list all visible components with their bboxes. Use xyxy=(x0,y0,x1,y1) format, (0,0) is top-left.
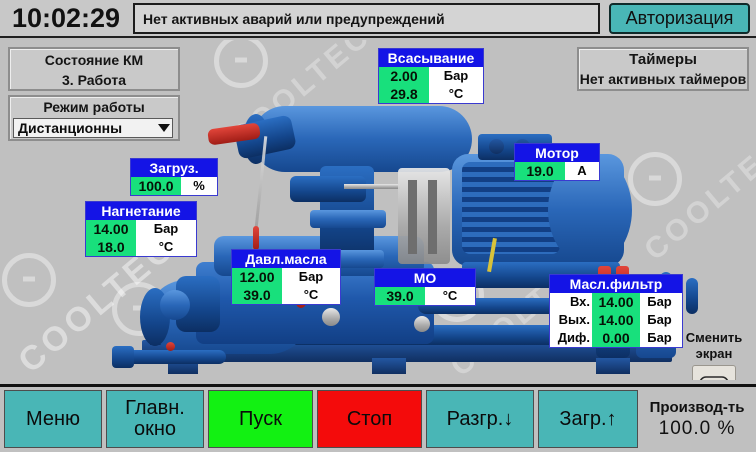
change-screen-button[interactable] xyxy=(692,365,736,380)
oil-filter-diff-unit: Бар xyxy=(640,329,679,347)
mo-value-row: 39.0 °C xyxy=(375,287,475,305)
coupling-guard xyxy=(398,168,450,264)
pressure-gauge xyxy=(414,316,430,332)
main-window-button[interactable]: Главн. окно xyxy=(106,390,204,448)
alarm-message-banner: Нет активных аварий или предупреждений xyxy=(133,3,600,34)
oil-filter-inlet-unit: Бар xyxy=(640,293,679,311)
change-screen-control[interactable]: Сменить экран xyxy=(678,330,750,380)
hmi-screen: 10:02:29 Нет активных аварий или предупр… xyxy=(0,0,756,452)
oil-filter-diff-label: Диф. xyxy=(550,329,592,347)
load-value: 100.0 xyxy=(131,177,181,195)
timers-panel: Таймеры Нет активных таймеров xyxy=(577,47,749,91)
machine-leg xyxy=(596,358,630,374)
oil-separator-nozzle xyxy=(112,346,134,368)
chevron-down-icon xyxy=(158,124,170,132)
actuator-rod xyxy=(344,184,400,189)
motor-current-unit: A xyxy=(565,162,599,180)
operating-mode-title: Режим работы xyxy=(10,98,178,117)
loop-arrow-icon xyxy=(699,374,729,380)
watermark-ring-icon xyxy=(628,152,682,206)
motor-tag-title: Мотор xyxy=(515,144,599,162)
watermark-ring-icon xyxy=(2,253,56,307)
menu-button[interactable]: Меню xyxy=(4,390,102,448)
coupling-guard-slot xyxy=(408,180,417,254)
bottom-toolbar: Меню Главн. окно Пуск Стоп Разгр.↓ Загр.… xyxy=(0,384,756,452)
stop-button[interactable]: Стоп xyxy=(317,390,422,448)
discharge-tag-title: Нагнетание xyxy=(86,202,196,220)
oil-pressure-unit: Бар xyxy=(282,268,340,286)
capacity-readout: Производ-ть 100.0 % xyxy=(642,390,752,448)
capacity-label: Производ-ть xyxy=(650,398,745,417)
suction-temperature-value: 29.8 xyxy=(379,85,429,103)
oil-filter-tag-title: Масл.фильтр xyxy=(550,275,682,293)
oil-filter-diff-row: Диф. 0.00 Бар xyxy=(550,329,682,347)
suction-tag-title: Всасывание xyxy=(379,49,483,67)
suction-pressure-value: 2.00 xyxy=(379,67,429,85)
compressor-shaft-housing xyxy=(160,290,190,320)
slide-valve-actuator xyxy=(290,176,366,202)
suction-temperature-row: 29.8 °C xyxy=(379,85,483,103)
compressor-state-value: 3. Работа xyxy=(10,70,178,90)
oil-filter-tag: Масл.фильтр Вх. 14.00 Бар Вых. 14.00 Бар… xyxy=(549,274,683,348)
discharge-pressure-value: 14.00 xyxy=(86,220,136,238)
motor-current-tag: Мотор 19.0 A xyxy=(514,143,600,181)
discharge-temperature-unit: °C xyxy=(136,238,196,256)
compressor-state-title: Состояние КМ xyxy=(10,50,178,70)
oil-temperature-unit: °C xyxy=(282,286,340,304)
oil-filter-outlet-value: 14.00 xyxy=(592,311,640,329)
timers-value: Нет активных таймеров xyxy=(579,70,747,89)
suction-pressure-row: 2.00 Бар xyxy=(379,67,483,85)
discharge-pressure-row: 14.00 Бар xyxy=(86,220,196,238)
discharge-temperature-value: 18.0 xyxy=(86,238,136,256)
authorization-button[interactable]: Авторизация xyxy=(609,3,750,34)
oil-filter-diff-value: 0.00 xyxy=(592,329,640,347)
oil-filter-outlet-label: Вых. xyxy=(550,311,592,329)
main-window-label-line1: Главн. xyxy=(125,398,185,419)
riser-flange xyxy=(310,210,386,228)
discharge-pressure-unit: Бар xyxy=(136,220,196,238)
oil-filter-outlet-unit: Бар xyxy=(640,311,679,329)
motor-current-value: 19.0 xyxy=(515,162,565,180)
main-window-label-line2: окно xyxy=(134,419,176,440)
mo-tag-title: МО xyxy=(375,269,475,287)
timers-title: Таймеры xyxy=(579,49,747,70)
load-value-row: 100.0 % xyxy=(131,177,217,195)
mo-temperature-tag: МО 39.0 °C xyxy=(374,268,476,306)
load-button[interactable]: Загр.↑ xyxy=(538,390,638,448)
oil-temperature-row: 39.0 °C xyxy=(232,286,340,304)
oil-filter-inlet-label: Вх. xyxy=(550,293,592,311)
oil-filter-inlet-row: Вх. 14.00 Бар xyxy=(550,293,682,311)
change-screen-label-line1: Сменить xyxy=(678,330,750,346)
mo-value: 39.0 xyxy=(375,287,425,305)
oil-pressure-value: 12.00 xyxy=(232,268,282,286)
oil-filter-outlet-row: Вых. 14.00 Бар xyxy=(550,311,682,329)
unload-button[interactable]: Разгр.↓ xyxy=(426,390,534,448)
motor-value-row: 19.0 A xyxy=(515,162,599,180)
start-button[interactable]: Пуск xyxy=(208,390,313,448)
oil-pressure-tag-title: Давл.масла xyxy=(232,250,340,268)
watermark-text: COOLTECH xyxy=(638,114,756,267)
motor-terminal-knob xyxy=(489,139,504,154)
suction-measurement-tag: Всасывание 2.00 Бар 29.8 °C xyxy=(378,48,484,104)
discharge-temperature-row: 18.0 °C xyxy=(86,238,196,256)
capacity-value: 100.0 % xyxy=(659,417,736,441)
mo-unit: °C xyxy=(425,287,475,305)
capillary-marker-red xyxy=(253,226,259,250)
discharge-measurement-tag: Нагнетание 14.00 Бар 18.0 °C xyxy=(85,201,197,257)
operating-mode-select[interactable]: Дистанционны xyxy=(13,118,173,138)
suction-pressure-unit: Бар xyxy=(429,67,483,85)
valve-handle-red xyxy=(166,342,175,351)
machine-leg xyxy=(372,358,406,374)
coupling-guard-slot xyxy=(428,180,437,254)
load-tag-title: Загруз. xyxy=(131,159,217,177)
clock-display: 10:02:29 xyxy=(6,3,126,34)
oil-pressure-row: 12.00 Бар xyxy=(232,268,340,286)
load-unit: % xyxy=(181,177,217,195)
compressor-state-panel: Состояние КМ 3. Работа xyxy=(8,47,180,91)
oil-separator-pipe xyxy=(120,350,226,364)
oil-pipe-vertical xyxy=(686,278,698,314)
change-screen-label-line2: экран xyxy=(678,346,750,362)
watermark-ring-icon xyxy=(214,40,268,88)
oil-pressure-measurement-tag: Давл.масла 12.00 Бар 39.0 °C xyxy=(231,249,341,305)
pressure-gauge xyxy=(322,308,340,326)
top-status-bar: 10:02:29 Нет активных аварий или предупр… xyxy=(0,0,756,38)
operating-mode-panel: Режим работы Дистанционны xyxy=(8,95,180,141)
load-percent-tag: Загруз. 100.0 % xyxy=(130,158,218,196)
oil-temperature-value: 39.0 xyxy=(232,286,282,304)
compressor-diagram-area: COOLTECH COOLTECH COOLTECH COOLTECH xyxy=(0,40,756,380)
operating-mode-value: Дистанционны xyxy=(18,120,122,136)
oil-filter-inlet-value: 14.00 xyxy=(592,293,640,311)
suction-temperature-unit: °C xyxy=(429,85,483,103)
